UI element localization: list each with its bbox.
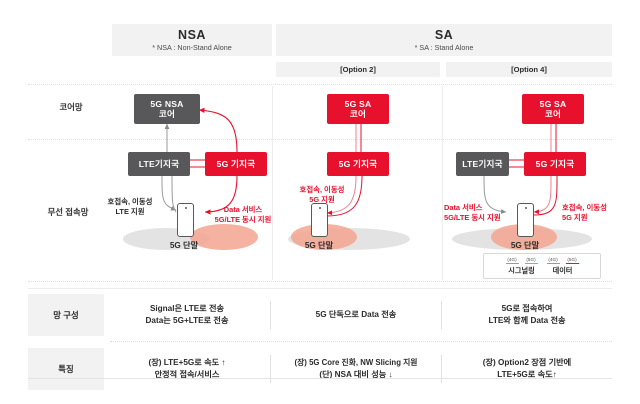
option-bar-option-2: [Option 2] (276, 62, 440, 77)
table-cell-line1: (장) Option2 장점 기반에 (483, 357, 571, 369)
opt2-gnb-node: 5G 기지국 (327, 152, 389, 176)
header-nsa: NSA * NSA : Non-Stand Alone (112, 24, 272, 56)
nsa-annotation-right-line1: Data 서비스 (204, 205, 282, 215)
table-cell: (장) LTE+5G로 속도 ↑ 안정적 접속/서비스 (104, 348, 270, 390)
diagram-root: NSA * NSA : Non-Stand Alone SA * SA : St… (0, 0, 640, 404)
option-4-label: [Option 4] (511, 65, 547, 74)
nsa-phone-camera-icon (185, 207, 187, 209)
row-label-core-network: 코어망 (38, 102, 104, 113)
legend-signaling-name: 시그널링 (508, 266, 534, 275)
legend-data-keys: (4G) (5G) (547, 257, 579, 265)
header-nsa-note: * NSA : Non-Stand Alone (152, 43, 232, 53)
opt4-core-node: 5G SA 코어 (522, 94, 584, 124)
opt4-gnb-label: 5G 기지국 (536, 159, 575, 170)
option-2-label: [Option 2] (340, 65, 376, 74)
header-sa-note: * SA : Stand Alone (415, 43, 474, 53)
legend-data: (4G) (5G) 데이터 (547, 257, 579, 276)
nsa-terminal-label: 5G 단말 (144, 239, 224, 251)
opt2-core-line2: 코어 (350, 109, 366, 120)
legend-data-4g-swatch (547, 263, 560, 265)
header-sa: SA * SA : Stand Alone (276, 24, 612, 56)
legend-data-5g: (5G) (566, 257, 579, 265)
table-cell-line2: 안정적 접속/서비스 (148, 369, 225, 381)
table-cell-line1: 5G로 접속하여 (488, 303, 565, 315)
opt2-core-line1: 5G SA (345, 99, 372, 110)
nsa-annotation-right: Data 서비스 5G/LTE 동시 지원 (204, 205, 282, 224)
table-cell-line2: Data는 5G+LTE로 전송 (146, 315, 229, 327)
opt4-terminal-label: 5G 단말 (485, 239, 565, 251)
diagram-divider-2 (442, 86, 443, 280)
nsa-annotation-right-line2: 5G/LTE 동시 지원 (204, 215, 282, 225)
opt2-gnb-label: 5G 기지국 (339, 159, 378, 170)
legend-signaling-5g: (5G) (525, 257, 538, 265)
legend-box: (4G) (5G) 시그널링 (4G) (5G) (483, 253, 601, 279)
nsa-gnb-label: 5G 기지국 (217, 159, 256, 170)
legend-signaling-5g-label: (5G) (526, 257, 535, 262)
table-horizontal-separator (110, 341, 612, 343)
opt4-annotation-right: 호접속, 이동성 5G 지원 (562, 203, 636, 222)
table-cell-line1: (장) LTE+5G로 속도 ↑ (148, 357, 225, 369)
opt4-annotation-left: Data 서비스 5G/LTE 동시 지원 (444, 203, 522, 222)
header-nsa-title: NSA (178, 28, 206, 42)
opt4-lte-enb-node: LTE기지국 (456, 152, 509, 176)
table-bottom-rule (28, 378, 612, 379)
opt4-gnb-node: 5G 기지국 (524, 152, 586, 176)
table-row: 특징 (장) LTE+5G로 속도 ↑ 안정적 접속/서비스 (장) 5G Co… (28, 348, 612, 390)
nsa-annotation-left-line1: 호접속, 이동성 (93, 197, 167, 207)
table-cell-line2: LTE와 함께 Data 전송 (488, 315, 565, 327)
table-cell: (장) 5G Core 진화, NW Slicing 지원 (단) NSA 대비… (271, 348, 441, 390)
opt4-annotation-left-line2: 5G/LTE 동시 지원 (444, 213, 522, 223)
nsa-annotation-left-line2: LTE 지원 (93, 207, 167, 217)
band-separator-top (28, 84, 612, 85)
opt4-lte-enb-label: LTE기지국 (462, 159, 503, 170)
nsa-lte-enb-label: LTE기지국 (139, 159, 180, 170)
table-cell-line2: (단) NSA 대비 성능 ↓ (295, 369, 418, 381)
nsa-gnb-node: 5G 기지국 (205, 152, 267, 176)
table-row-key: 망 구성 (28, 294, 104, 336)
legend-signaling-keys: (4G) (5G) (506, 257, 538, 265)
legend-signaling-5g-swatch (525, 263, 538, 265)
band-separator-mid (28, 139, 612, 140)
opt2-terminal-text: 5G 단말 (305, 241, 333, 250)
option-bar-option-4: [Option 4] (446, 62, 612, 77)
table-cell-line1: (장) 5G Core 진화, NW Slicing 지원 (295, 357, 418, 369)
nsa-terminal-phone (177, 203, 194, 237)
header-sa-title: SA (435, 28, 453, 42)
table-cell: (장) Option2 장점 기반에 LTE+5G로 속도↑ (442, 348, 612, 390)
opt4-annotation-right-line2: 5G 지원 (562, 213, 636, 223)
opt2-core-node: 5G SA 코어 (327, 94, 389, 124)
nsa-core-line1: 5G NSA (150, 99, 183, 110)
opt4-annotation-left-line1: Data 서비스 (444, 203, 522, 213)
legend-data-name: 데이터 (553, 266, 573, 275)
nsa-terminal-text: 5G 단말 (170, 241, 198, 250)
opt4-phone-camera-icon (525, 207, 527, 209)
opt2-terminal-label: 5G 단말 (279, 239, 359, 251)
legend-signaling-4g-swatch (506, 263, 519, 265)
opt2-annotation-line2: 5G 지원 (285, 195, 359, 205)
nsa-core-line2: 코어 (159, 109, 175, 120)
table-cell-line1: 5G 단독으로 Data 전송 (316, 309, 397, 321)
legend-signaling-4g-label: (4G) (507, 257, 516, 262)
nsa-core-node: 5G NSA 코어 (134, 94, 200, 124)
legend-signaling: (4G) (5G) 시그널링 (506, 257, 538, 276)
nsa-annotation-left: 호접속, 이동성 LTE 지원 (93, 197, 167, 216)
comparison-table: 망 구성 Signal은 LTE로 전송 Data는 5G+LTE로 전송 5G… (28, 288, 612, 390)
opt4-terminal-text: 5G 단말 (511, 241, 539, 250)
legend-data-5g-swatch (566, 263, 579, 265)
diagram-divider-1 (272, 86, 273, 280)
row-label-ran-text: 무선 접속망 (48, 207, 89, 217)
band-separator-bottom (28, 281, 612, 282)
table-row-key-text: 망 구성 (53, 309, 78, 321)
opt2-annotation: 호접속, 이동성 5G 지원 (285, 185, 359, 204)
opt2-terminal-phone (311, 203, 328, 237)
opt4-core-line1: 5G SA (540, 99, 567, 110)
table-row: 망 구성 Signal은 LTE로 전송 Data는 5G+LTE로 전송 5G… (28, 294, 612, 336)
opt2-annotation-line1: 호접속, 이동성 (285, 185, 359, 195)
legend-data-5g-label: (5G) (567, 257, 576, 262)
table-cell-line1: Signal은 LTE로 전송 (146, 303, 229, 315)
table-cell: Signal은 LTE로 전송 Data는 5G+LTE로 전송 (104, 294, 270, 336)
nsa-lte-enb-node: LTE기지국 (128, 152, 190, 176)
legend-signaling-4g: (4G) (506, 257, 519, 265)
row-label-core-text: 코어망 (59, 102, 82, 112)
legend-data-4g: (4G) (547, 257, 560, 265)
table-cell: 5G 단독으로 Data 전송 (271, 294, 441, 336)
opt4-annotation-right-line1: 호접속, 이동성 (562, 203, 636, 213)
table-cell-line2: LTE+5G로 속도↑ (483, 369, 571, 381)
table-row-key-text: 특징 (58, 363, 73, 375)
opt4-core-line2: 코어 (545, 109, 561, 120)
legend-data-4g-label: (4G) (548, 257, 557, 262)
table-row-key: 특징 (28, 348, 104, 390)
table-cell: 5G로 접속하여 LTE와 함께 Data 전송 (442, 294, 612, 336)
opt2-phone-camera-icon (319, 207, 321, 209)
